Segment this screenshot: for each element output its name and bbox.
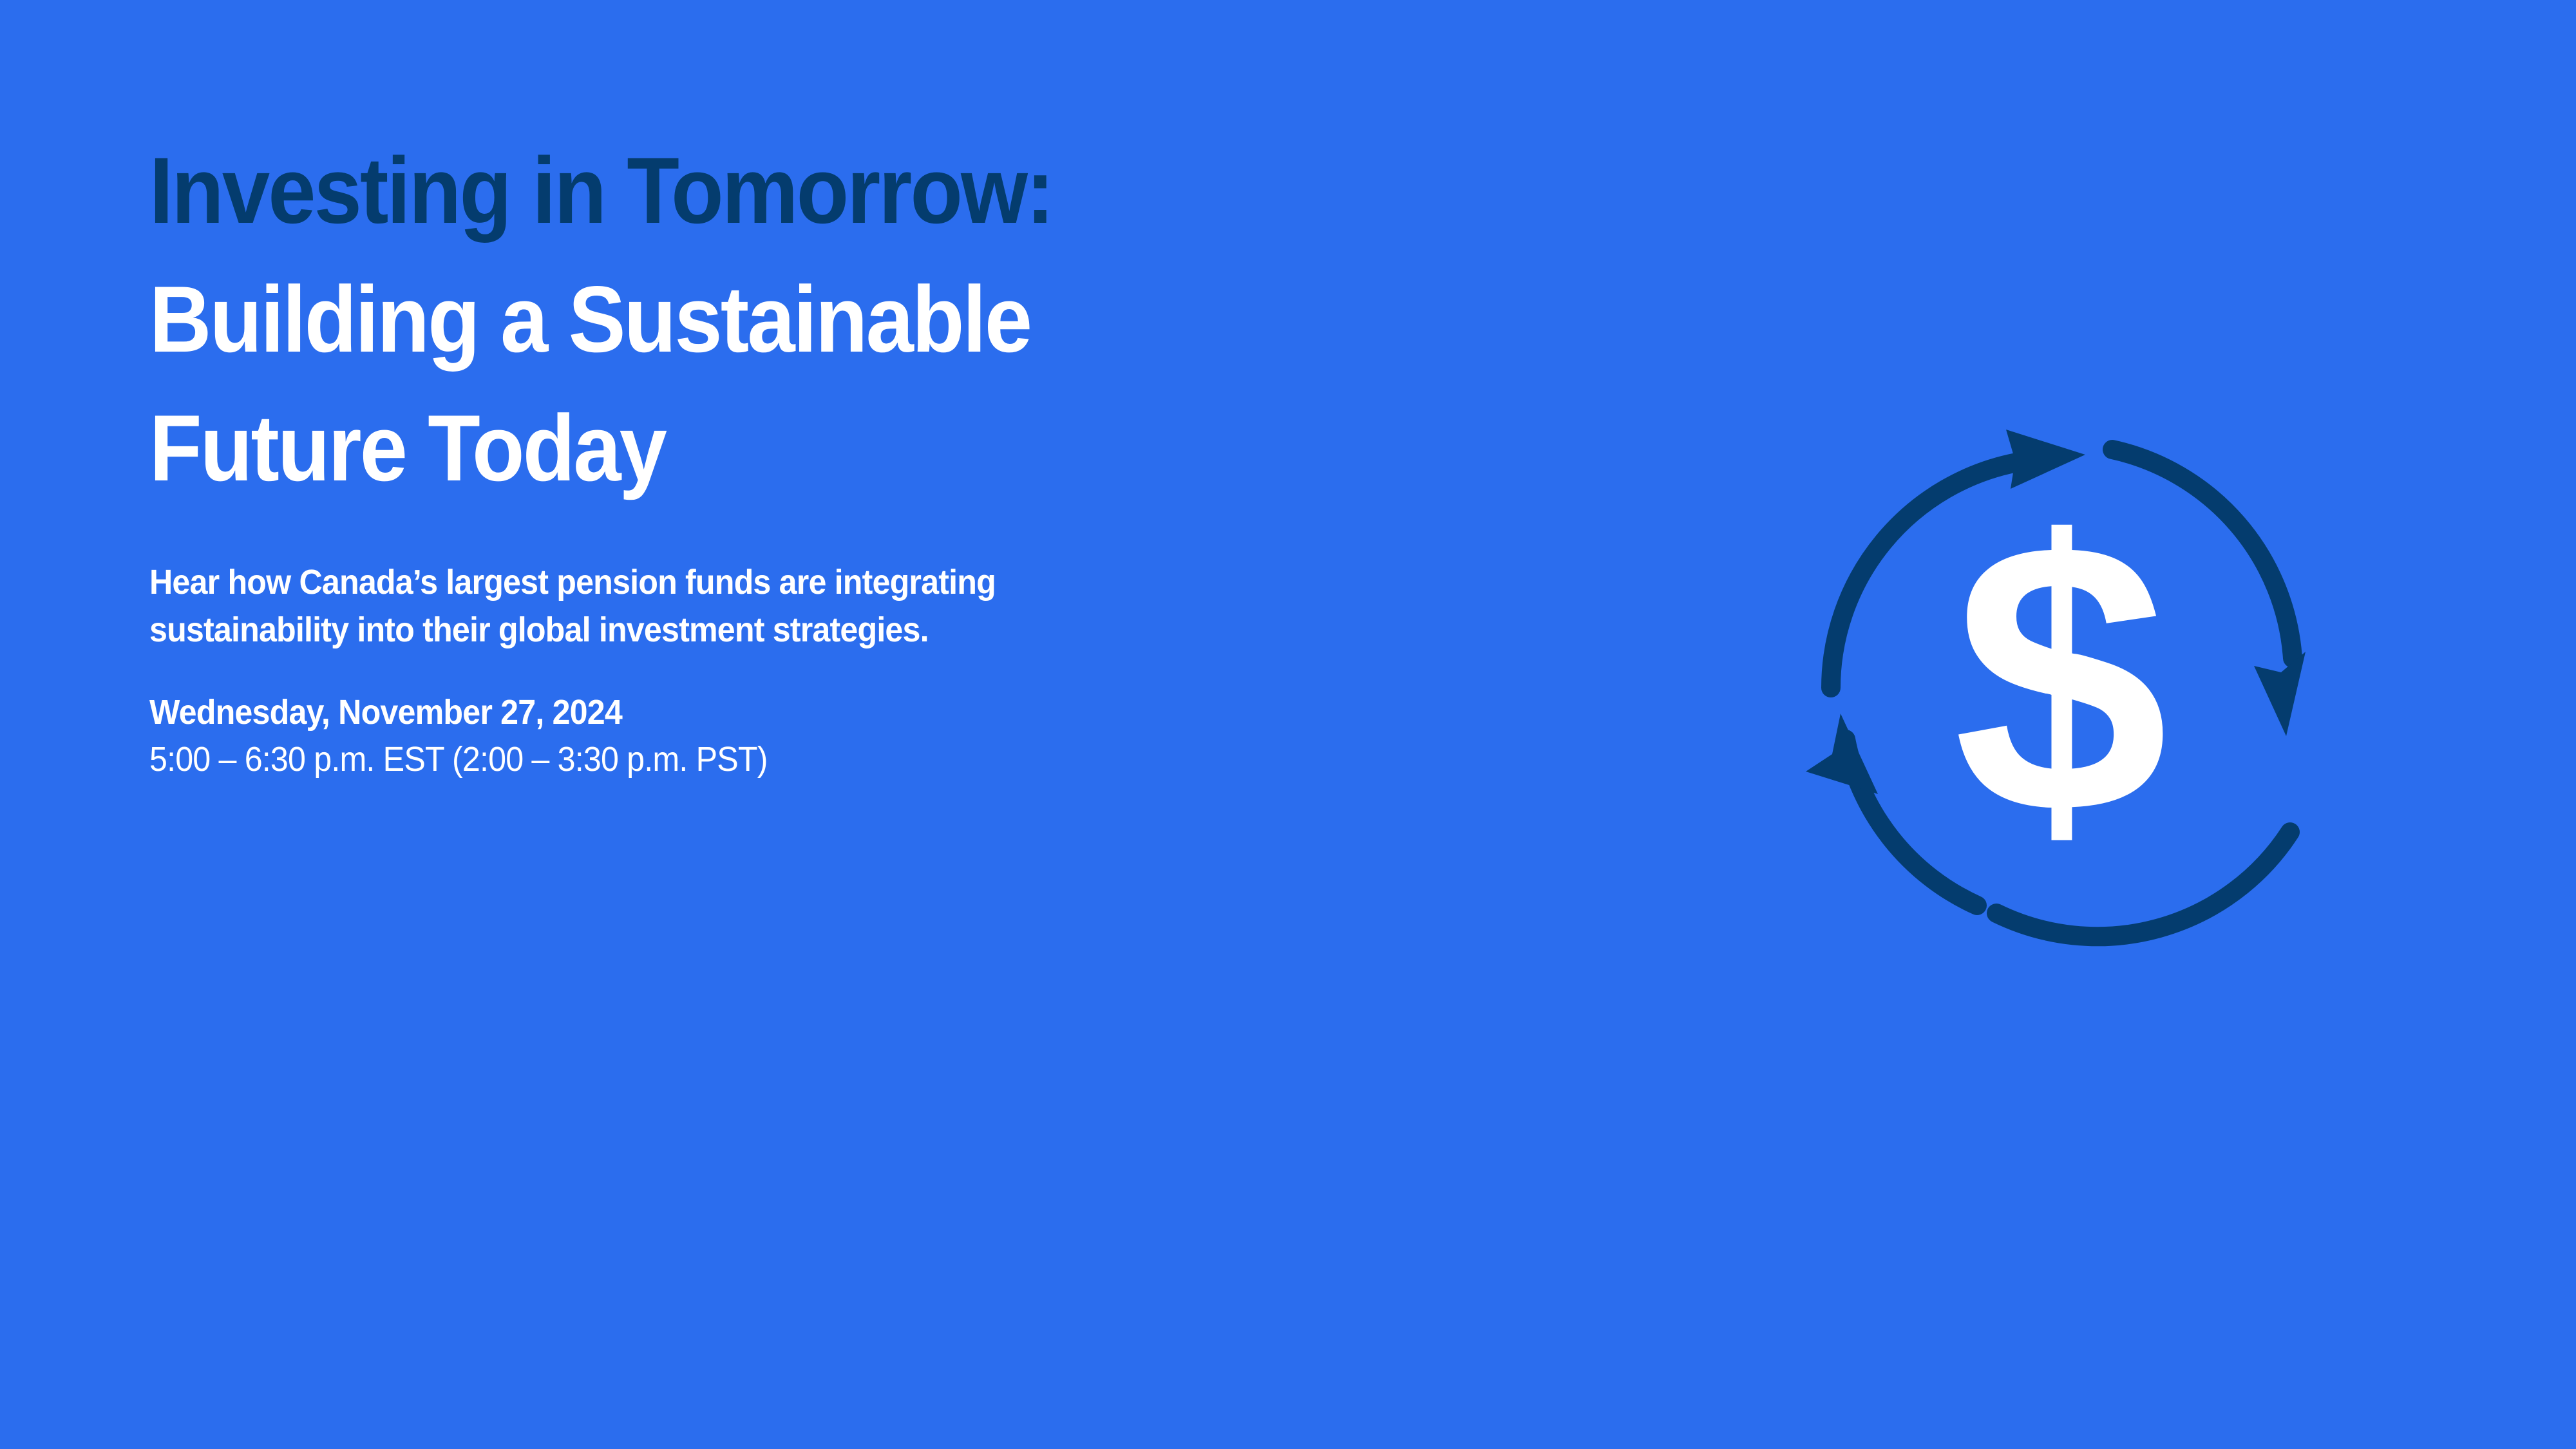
event-date: Wednesday, November 27, 2024	[149, 689, 1599, 736]
event-time: 5:00 – 6:30 p.m. EST (2:00 – 3:30 p.m. P…	[149, 736, 1599, 783]
subtitle-line-2: sustainability into their global investm…	[149, 607, 1515, 654]
svg-text:$: $	[1953, 462, 2168, 894]
page-title: Investing in Tomorrow: Building a Sustai…	[149, 126, 1575, 513]
dollar-cycle-icon: $	[1784, 399, 2338, 953]
headline-line-3: Future Today	[149, 384, 1575, 513]
subtitle-line-1: Hear how Canada’s largest pension funds …	[149, 559, 1515, 607]
text-column: Investing in Tomorrow: Building a Sustai…	[149, 126, 1708, 784]
subtitle: Hear how Canada’s largest pension funds …	[149, 513, 1515, 654]
headline-line-2: Building a Sustainable	[149, 255, 1575, 384]
headline-line-1: Investing in Tomorrow:	[149, 126, 1575, 255]
event-datetime: Wednesday, November 27, 2024 5:00 – 6:30…	[149, 654, 1599, 784]
event-promo-banner: Investing in Tomorrow: Building a Sustai…	[0, 0, 2576, 1449]
